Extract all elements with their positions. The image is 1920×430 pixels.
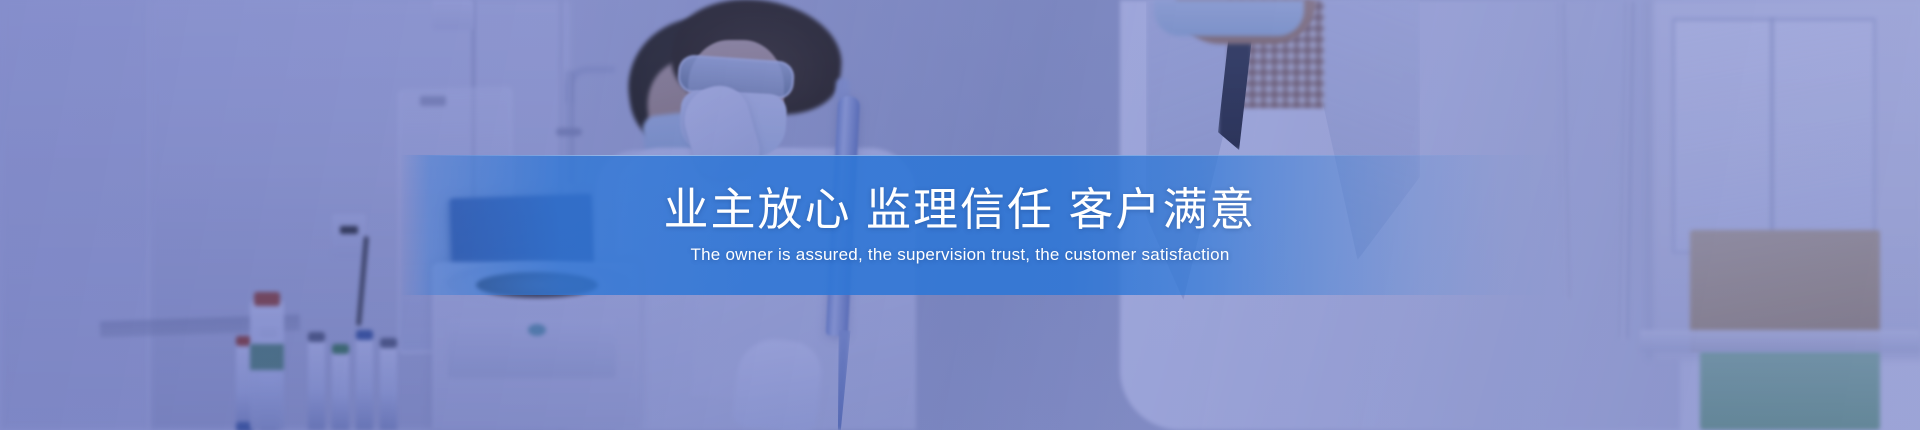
banner-subheadline: The owner is assured, the supervision tr… xyxy=(690,245,1229,265)
banner-copy: 业主放心 监理信任 客户满意 The owner is assured, the… xyxy=(0,155,1920,295)
hero-banner: 业主放心 监理信任 客户满意 The owner is assured, the… xyxy=(0,0,1920,430)
banner-headline: 业主放心 监理信任 客户满意 xyxy=(663,185,1256,235)
